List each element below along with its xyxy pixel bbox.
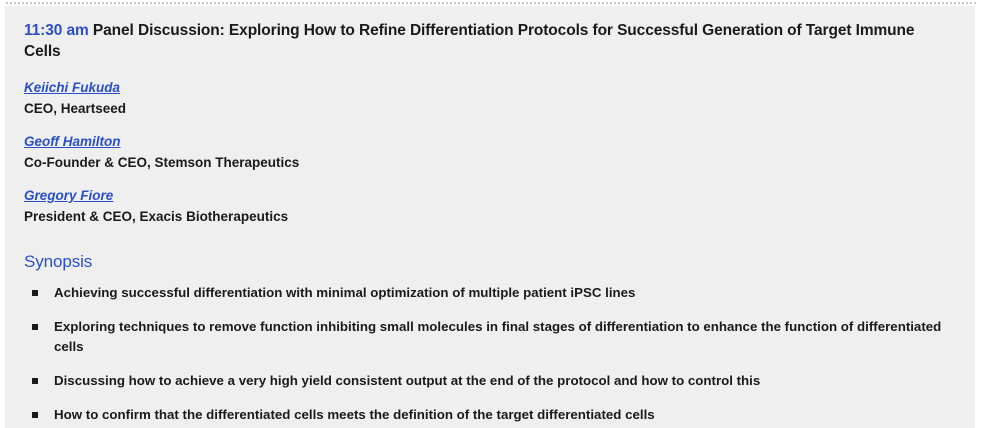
square-bullet-icon <box>32 324 38 330</box>
speaker-list: Keiichi Fukuda CEO, Heartseed Geoff Hami… <box>24 79 961 226</box>
synopsis-bullet-list: Achieving successful differentiation wit… <box>24 283 961 425</box>
speaker-role: President & CEO, Exacis Biotherapeutics <box>24 207 961 226</box>
synopsis-bullet-text: Discussing how to achieve a very high yi… <box>54 373 760 388</box>
synopsis-bullet-text: Achieving successful differentiation wit… <box>54 285 635 300</box>
session-card: 11:30 am Panel Discussion: Exploring How… <box>5 6 975 428</box>
square-bullet-icon <box>32 378 38 384</box>
session-time: 11:30 am <box>24 22 89 39</box>
speaker-item: Gregory Fiore President & CEO, Exacis Bi… <box>24 187 961 226</box>
synopsis-heading: Synopsis <box>24 251 961 272</box>
session-title: 11:30 am Panel Discussion: Exploring How… <box>24 20 939 62</box>
agenda-session-panel: 11:30 am Panel Discussion: Exploring How… <box>0 0 1000 428</box>
square-bullet-icon <box>32 290 38 296</box>
speaker-name-link[interactable]: Gregory Fiore <box>24 187 113 204</box>
speaker-role: CEO, Heartseed <box>24 99 961 118</box>
synopsis-bullet: Discussing how to achieve a very high yi… <box>24 371 961 391</box>
speaker-role: Co-Founder & CEO, Stemson Therapeutics <box>24 153 961 172</box>
speaker-item: Geoff Hamilton Co-Founder & CEO, Stemson… <box>24 133 961 172</box>
speaker-name-link[interactable]: Geoff Hamilton <box>24 133 121 150</box>
speaker-name-link[interactable]: Keiichi Fukuda <box>24 79 120 96</box>
square-bullet-icon <box>32 412 38 418</box>
synopsis-bullet: Exploring techniques to remove function … <box>24 317 961 357</box>
session-title-text: Panel Discussion: Exploring How to Refin… <box>24 22 914 60</box>
synopsis-bullet: How to confirm that the differentiated c… <box>24 405 961 425</box>
synopsis-bullet-text: Exploring techniques to remove function … <box>54 319 941 354</box>
speaker-item: Keiichi Fukuda CEO, Heartseed <box>24 79 961 118</box>
synopsis-bullet: Achieving successful differentiation wit… <box>24 283 961 303</box>
synopsis-bullet-text: How to confirm that the differentiated c… <box>54 407 655 422</box>
